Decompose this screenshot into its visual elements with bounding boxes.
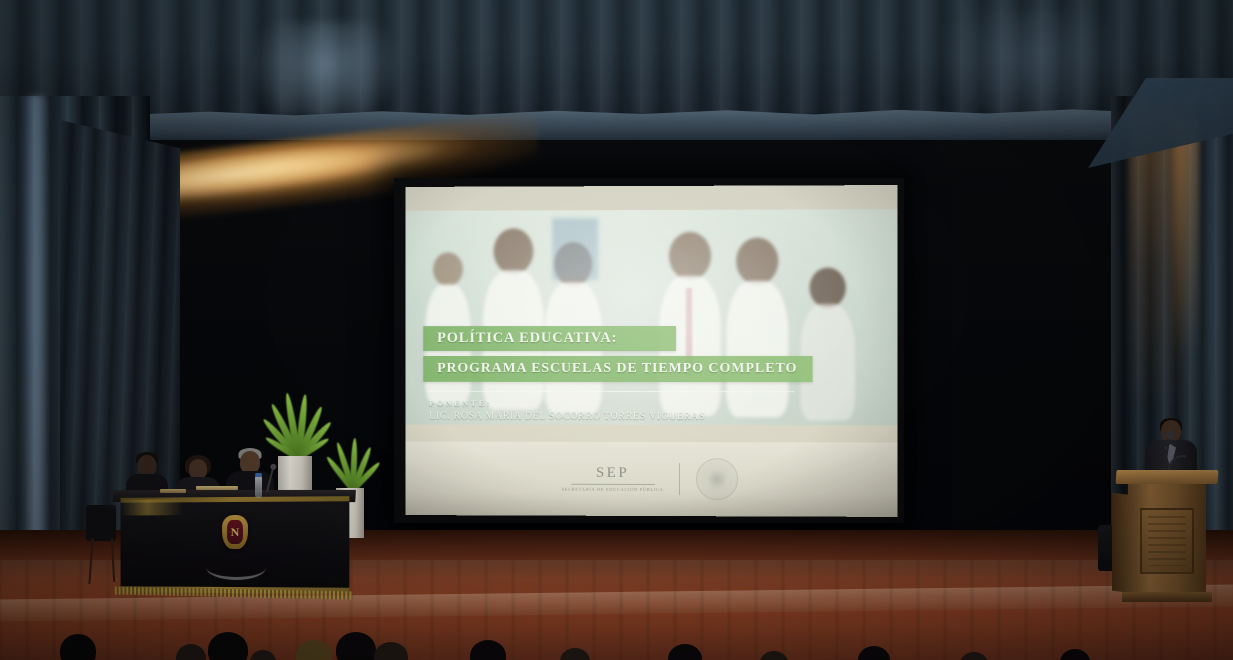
slide-footer: SEP SECRETARÍA DE EDUCACIÓN PÚBLICA: [405, 441, 897, 516]
slide-title-bar-2: PROGRAMA ESCUELAS DE TIEMPO COMPLETO: [423, 356, 812, 382]
audience-head: [960, 652, 988, 660]
slide-title-line-2: PROGRAMA ESCUELAS DE TIEMPO COMPLETO: [423, 361, 797, 377]
presentation-slide: POLÍTICA EDUCATIVA: PROGRAMA ESCUELAS DE…: [405, 185, 897, 517]
sep-logo-divider: [679, 463, 680, 495]
fern-plant-icon: [317, 436, 383, 490]
audience-head: [560, 648, 590, 660]
sep-logo-group: SEP SECRETARÍA DE EDUCACIÓN PÚBLICA: [562, 458, 739, 501]
projection-screen[interactable]: POLÍTICA EDUCATIVA: PROGRAMA ESCUELAS DE…: [405, 185, 897, 517]
head-table[interactable]: N: [121, 496, 350, 594]
sep-logotype: SEP SECRETARÍA DE EDUCACIÓN PÚBLICA: [562, 464, 664, 493]
audience-head: [760, 651, 788, 660]
slide-title-line-1: POLÍTICA EDUCATIVA:: [423, 330, 617, 347]
sep-logo-text: SEP: [562, 464, 664, 481]
audience-head: [296, 640, 332, 660]
mexican-national-seal-icon: [697, 458, 739, 500]
sep-logo-subtitle: SECRETARÍA DE EDUCACIÓN PÚBLICA: [562, 486, 664, 493]
presenter-name: LIC. ROSA MARÍA DEL SOCORRO TORRES VIGUE…: [429, 411, 705, 422]
audience-head: [470, 640, 506, 660]
child-figure: [726, 238, 788, 415]
audience-head: [1060, 649, 1090, 660]
auditorium-scene: POLÍTICA EDUCATIVA: PROGRAMA ESCUELAS DE…: [0, 0, 1233, 660]
podium-front-panel: [1140, 508, 1194, 574]
water-bottle[interactable]: [255, 476, 262, 498]
podium-top-ledge: [1116, 470, 1219, 484]
podium-carving: [1148, 516, 1186, 566]
wooden-podium[interactable]: [1128, 482, 1206, 594]
documents[interactable]: [160, 489, 186, 493]
audience-head: [668, 644, 702, 660]
sep-logo-rule: [571, 483, 655, 484]
audience-head: [374, 642, 408, 660]
audience-head: [858, 646, 890, 660]
slide-title-bar-1: POLÍTICA EDUCATIVA:: [423, 326, 676, 351]
bottle-cap: [255, 473, 262, 477]
curtain-highlight: [250, 22, 400, 127]
table-gold-swag: [121, 498, 350, 515]
table-silver-swag: [206, 555, 266, 580]
audience-head: [208, 632, 248, 660]
chair[interactable]: [86, 505, 116, 541]
documents[interactable]: [196, 486, 238, 490]
audience-head: [60, 634, 96, 660]
slide-presenter-block: PONENTE: LIC. ROSA MARÍA DEL SOCORRO TOR…: [429, 398, 705, 422]
audience-head: [250, 650, 276, 660]
crest-field: N: [227, 520, 243, 544]
left-curtain-fold-highlight: [24, 96, 50, 586]
audience-head: [336, 632, 376, 660]
child-figure: [800, 268, 854, 419]
right-curtain-warm-glow-core: [1173, 120, 1199, 420]
audience-head: [176, 644, 206, 660]
top-curtain: [0, 0, 1233, 126]
audience-silhouettes: [0, 616, 1233, 660]
institutional-crest-icon: N: [222, 515, 248, 549]
podium-base: [1122, 592, 1212, 602]
crest-monogram: N: [231, 526, 240, 538]
presenter-label: PONENTE:: [429, 398, 705, 408]
slide-photo-children: [405, 209, 897, 425]
photo-background-panel: [552, 218, 598, 280]
